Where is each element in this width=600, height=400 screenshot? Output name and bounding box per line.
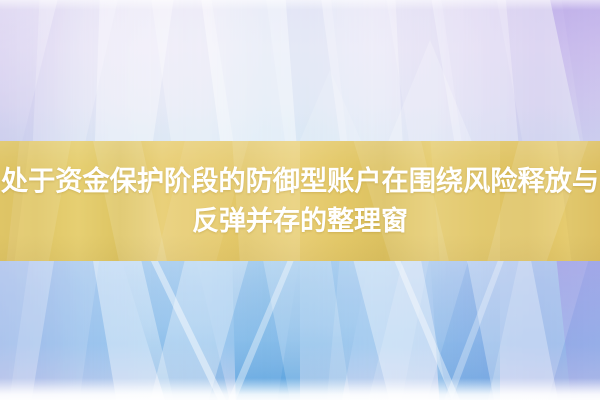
promo-banner: 处于资金保护阶段的防御型账户在围绕风险释放与 反弹并存的整理窗 — [0, 0, 600, 400]
top-highlight-fade — [0, 0, 600, 10]
headline-block: 处于资金保护阶段的防御型账户在围绕风险释放与 反弹并存的整理窗 — [0, 141, 600, 261]
bottom-white-fade — [0, 378, 600, 400]
headline-line-1: 处于资金保护阶段的防御型账户在围绕风险释放与 — [1, 163, 599, 199]
headline-line-2: 反弹并存的整理窗 — [192, 203, 408, 239]
